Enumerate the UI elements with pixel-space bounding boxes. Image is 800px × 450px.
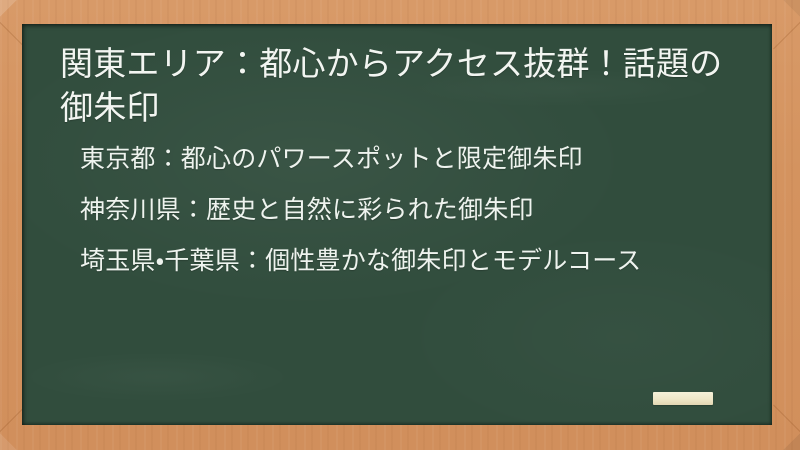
bullet-list: 東京都：都心のパワースポットと限定御朱印 神奈川県：歴史と自然に彩られた御朱印 … — [48, 143, 746, 277]
list-item: 東京都：都心のパワースポットと限定御朱印 — [80, 143, 740, 175]
chalkboard-surface: 関東エリア：都心からアクセス抜群！話題の御朱印 東京都：都心のパワースポットと限… — [22, 24, 772, 425]
chalkboard-slide: 関東エリア：都心からアクセス抜群！話題の御朱印 東京都：都心のパワースポットと限… — [0, 0, 800, 450]
list-item: 埼玉県・千葉県：個性豊かな御朱印とモデルコース — [80, 245, 740, 277]
chalk-stick-icon — [653, 392, 713, 405]
list-item: 神奈川県：歴史と自然に彩られた御朱印 — [80, 194, 740, 226]
slide-title: 関東エリア：都心からアクセス抜群！話題の御朱印 — [60, 42, 746, 129]
frame-miter-top-right — [773, 16, 800, 49]
frame-miter-bottom-right — [773, 405, 800, 438]
